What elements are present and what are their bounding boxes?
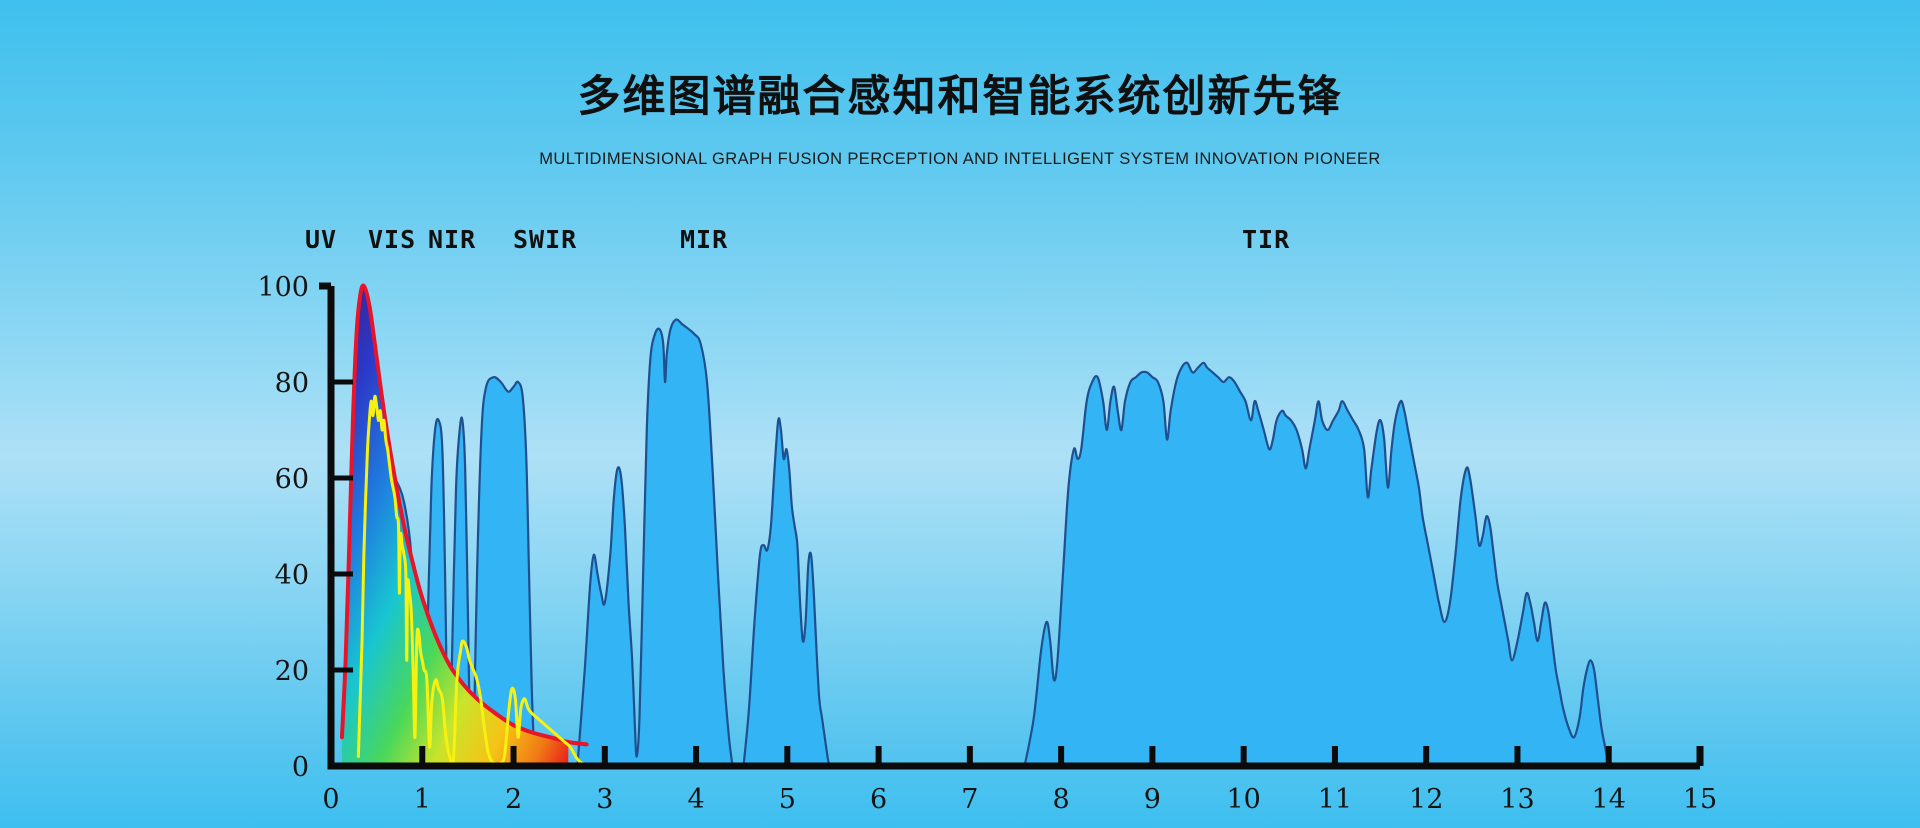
poster-stage: 多维图谱融合感知和智能系统创新先锋 MULTIDIMENSIONAL GRAPH… (0, 0, 1920, 828)
x-tick-label: 14 (1592, 784, 1626, 815)
y-tick-label: 40 (275, 560, 309, 591)
y-tick-label: 0 (292, 752, 309, 783)
x-tick-label: 0 (322, 784, 339, 815)
y-tick-label: 100 (257, 272, 309, 303)
x-tick-label: 3 (596, 784, 613, 815)
transmission-window-5 (744, 418, 830, 766)
x-tick-label: 5 (779, 784, 796, 815)
transmission-window-4 (577, 319, 732, 766)
x-tick-label: 8 (1053, 784, 1070, 815)
transmission-window-6 (1025, 363, 1609, 766)
y-tick-label: 80 (275, 368, 309, 399)
x-tick-label: 9 (1144, 784, 1161, 815)
y-axis-ticks: 020406080100 (257, 272, 353, 783)
x-tick-label: 1 (414, 784, 431, 815)
x-tick-label: 7 (961, 784, 978, 815)
x-tick-label: 11 (1318, 784, 1352, 815)
x-tick-label: 6 (870, 784, 887, 815)
x-tick-label: 2 (505, 784, 522, 815)
x-tick-label: 10 (1226, 784, 1260, 815)
x-tick-label: 12 (1409, 784, 1443, 815)
y-tick-label: 20 (275, 656, 309, 687)
spectrum-chart: 020406080100 0123456789101112131415 (0, 0, 1920, 828)
x-tick-label: 13 (1500, 784, 1534, 815)
transmission-area (357, 319, 1609, 766)
y-tick-label: 60 (275, 464, 309, 495)
x-tick-label: 15 (1683, 784, 1717, 815)
x-tick-label: 4 (687, 784, 704, 815)
